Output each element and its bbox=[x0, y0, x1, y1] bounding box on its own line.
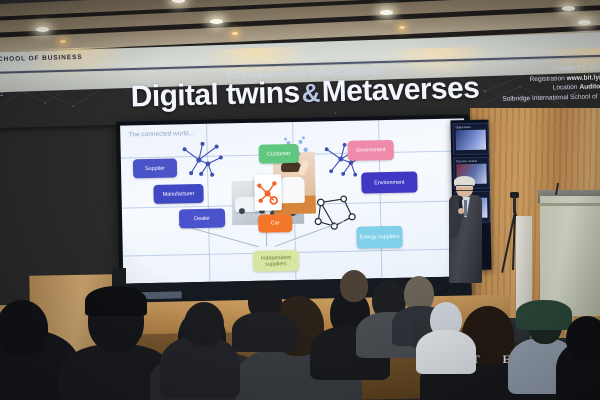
banner-location-label: Location bbox=[553, 84, 578, 92]
node-label: Dealer bbox=[194, 215, 210, 221]
ceiling-downlight bbox=[36, 27, 49, 32]
slide-node-supplier: Supplier bbox=[133, 158, 177, 178]
slide-title: The connected world... bbox=[128, 130, 194, 138]
banner-title-part2: Metaverses bbox=[321, 71, 479, 108]
node-label: Environment bbox=[374, 179, 404, 186]
banner-title-ampersand: & bbox=[299, 78, 322, 109]
ceiling-downlight bbox=[380, 10, 393, 15]
slide-node-independent-suppliers: Independent suppliers bbox=[253, 250, 299, 272]
banner-title-part1: Digital twins bbox=[130, 76, 300, 113]
node-label: Supplier bbox=[145, 165, 165, 171]
audience-member bbox=[566, 316, 600, 360]
slide-node-energy-suppliers: Energy suppliers bbox=[356, 226, 402, 249]
audience-member bbox=[0, 300, 48, 356]
banner-registration-label: Registration bbox=[529, 75, 564, 83]
slide-node-customer: Customer bbox=[259, 144, 299, 164]
microphone-head-icon bbox=[458, 196, 463, 201]
slide-node-manufacturer: Manufacturer bbox=[153, 184, 203, 204]
slide-node-car: Car bbox=[258, 214, 292, 233]
speaker-tie bbox=[464, 200, 467, 216]
node-label: Energy suppliers bbox=[359, 234, 399, 241]
node-label: Manufacturer bbox=[163, 191, 195, 198]
ceiling-downlight bbox=[562, 6, 575, 11]
banner-location-value: Auditorium, 4F bbox=[579, 83, 600, 91]
slide-content: The connected world... bbox=[120, 118, 467, 283]
audience-member bbox=[232, 312, 298, 352]
audience-member bbox=[416, 330, 476, 374]
cap-icon bbox=[85, 286, 147, 316]
node-label: Government bbox=[356, 147, 386, 154]
node-label: Car bbox=[271, 220, 280, 226]
connected-hub-icon bbox=[254, 174, 282, 211]
glasses-icon bbox=[456, 185, 473, 191]
audience-member bbox=[516, 300, 572, 330]
ceiling-downlight bbox=[399, 26, 405, 29]
banner-registration-url: www.bit.ly/dlcon22 bbox=[566, 73, 600, 82]
slide-node-government: Government bbox=[348, 140, 394, 161]
tripod-column bbox=[513, 197, 516, 213]
conference-hall-photo: CHOOL OF BUSINESS am UTC 2022 Digital Li… bbox=[0, 0, 600, 400]
node-label: Independent suppliers bbox=[255, 254, 297, 267]
node-label: Customer bbox=[267, 151, 290, 157]
speaker-hand bbox=[458, 208, 464, 214]
podium-lectern bbox=[540, 196, 600, 316]
slide-node-dealer: Dealer bbox=[179, 208, 225, 228]
side-thumbnail: Digital twins... bbox=[452, 123, 489, 156]
speaker-presenter bbox=[448, 178, 486, 283]
ceiling-downlight bbox=[578, 20, 591, 25]
ceiling-downlight bbox=[60, 40, 66, 43]
ceiling-downlight bbox=[232, 32, 238, 35]
slide-node-environment: Environment bbox=[361, 171, 417, 193]
banner-info-block: October 21, 2022 1~5pm Registration www.… bbox=[501, 63, 600, 104]
spoke-network-left-icon bbox=[176, 139, 229, 182]
audience-member bbox=[184, 302, 224, 346]
podium-edge bbox=[540, 203, 600, 206]
ceiling-downlight bbox=[210, 19, 223, 24]
audience-member bbox=[340, 270, 368, 302]
